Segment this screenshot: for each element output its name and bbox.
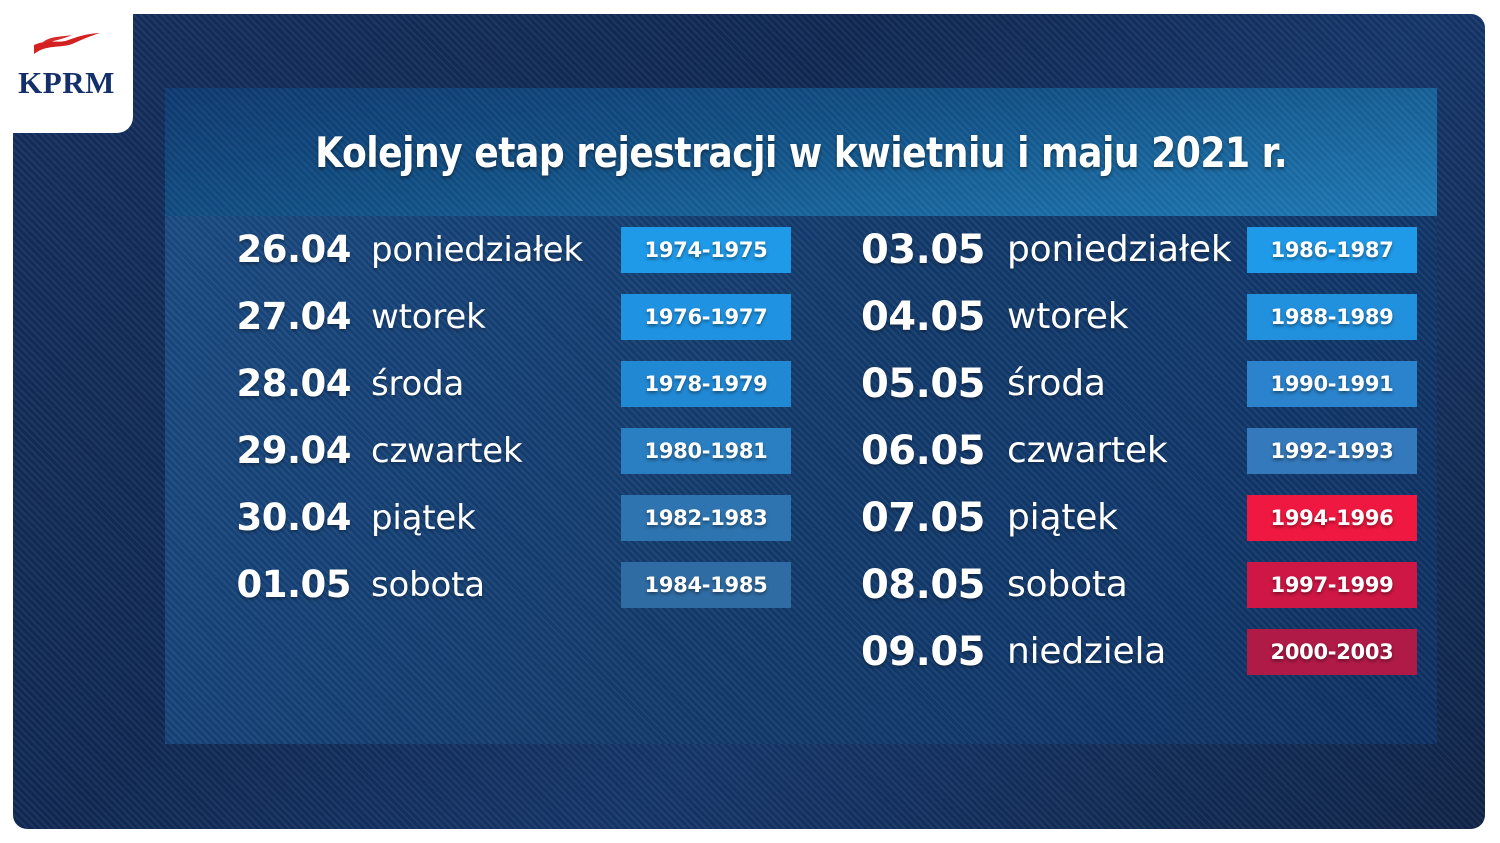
birth-year-badge: 1982-1983	[621, 495, 791, 541]
kprm-logo-plate: KPRM	[0, 0, 133, 133]
schedule-row: 06.05czwartek1992-1993	[825, 417, 1425, 484]
row-date: 06.05	[825, 428, 985, 474]
schedule-row: 05.05środa1990-1991	[825, 350, 1425, 417]
row-dayname: wtorek	[371, 297, 486, 337]
polish-flag-wave-icon	[31, 32, 103, 62]
row-dayname: piątek	[371, 498, 476, 538]
birth-year-badge: 1994-1996	[1247, 495, 1417, 541]
row-dayname: środa	[1007, 363, 1106, 404]
birth-year-badge: 1992-1993	[1247, 428, 1417, 474]
schedule-row: 26.04poniedziałek1974-1975	[203, 216, 823, 283]
birth-year-badge: 1978-1979	[621, 361, 791, 407]
birth-year-badge: 1990-1991	[1247, 361, 1417, 407]
row-date: 04.05	[825, 294, 985, 340]
birth-year-badge: 1986-1987	[1247, 227, 1417, 273]
row-dayname: poniedziałek	[371, 230, 583, 270]
schedule-row: 01.05sobota1984-1985	[203, 551, 823, 618]
row-dayname: poniedziałek	[1007, 229, 1231, 270]
birth-year-badge: 1980-1981	[621, 428, 791, 474]
schedule-row: 30.04piątek1982-1983	[203, 484, 823, 551]
kprm-wordmark: KPRM	[18, 65, 115, 101]
content-panel: Kolejny etap rejestracji w kwietniu i ma…	[165, 88, 1437, 744]
row-dayname: sobota	[371, 565, 485, 605]
schedule-row: 09.05niedziela2000-2003	[825, 618, 1425, 685]
birth-year-badge: 1997-1999	[1247, 562, 1417, 608]
row-date: 27.04	[203, 295, 351, 338]
row-date: 26.04	[203, 228, 351, 271]
schedule-row: 07.05piątek1994-1996	[825, 484, 1425, 551]
infographic-root: Kolejny etap rejestracji w kwietniu i ma…	[0, 0, 1500, 843]
row-dayname: sobota	[1007, 564, 1128, 605]
row-date: 01.05	[203, 563, 351, 606]
schedule-row: 03.05poniedziałek1986-1987	[825, 216, 1425, 283]
schedule-row: 08.05sobota1997-1999	[825, 551, 1425, 618]
birth-year-badge: 2000-2003	[1247, 629, 1417, 675]
birth-year-badge: 1976-1977	[621, 294, 791, 340]
schedule-column-april: 26.04poniedziałek1974-197527.04wtorek197…	[203, 216, 823, 618]
row-dayname: czwartek	[1007, 430, 1168, 471]
row-date: 05.05	[825, 361, 985, 407]
row-date: 08.05	[825, 562, 985, 608]
schedule-row: 28.04środa1978-1979	[203, 350, 823, 417]
birth-year-badge: 1984-1985	[621, 562, 791, 608]
row-date: 09.05	[825, 629, 985, 675]
schedule-row: 04.05wtorek1988-1989	[825, 283, 1425, 350]
schedule-row: 29.04czwartek1980-1981	[203, 417, 823, 484]
page-title: Kolejny etap rejestracji w kwietniu i ma…	[315, 128, 1287, 177]
row-date: 03.05	[825, 227, 985, 273]
row-date: 07.05	[825, 495, 985, 541]
row-dayname: niedziela	[1007, 631, 1166, 672]
schedule-columns: 26.04poniedziałek1974-197527.04wtorek197…	[165, 216, 1437, 744]
birth-year-badge: 1988-1989	[1247, 294, 1417, 340]
row-date: 28.04	[203, 362, 351, 405]
row-dayname: piątek	[1007, 497, 1118, 538]
row-dayname: środa	[371, 364, 464, 404]
birth-year-badge: 1974-1975	[621, 227, 791, 273]
schedule-column-may: 03.05poniedziałek1986-198704.05wtorek198…	[825, 216, 1425, 685]
row-dayname: wtorek	[1007, 296, 1128, 337]
row-date: 29.04	[203, 429, 351, 472]
outer-card: Kolejny etap rejestracji w kwietniu i ma…	[13, 14, 1485, 829]
schedule-row: 27.04wtorek1976-1977	[203, 283, 823, 350]
title-band: Kolejny etap rejestracji w kwietniu i ma…	[165, 88, 1437, 216]
row-date: 30.04	[203, 496, 351, 539]
row-dayname: czwartek	[371, 431, 523, 471]
